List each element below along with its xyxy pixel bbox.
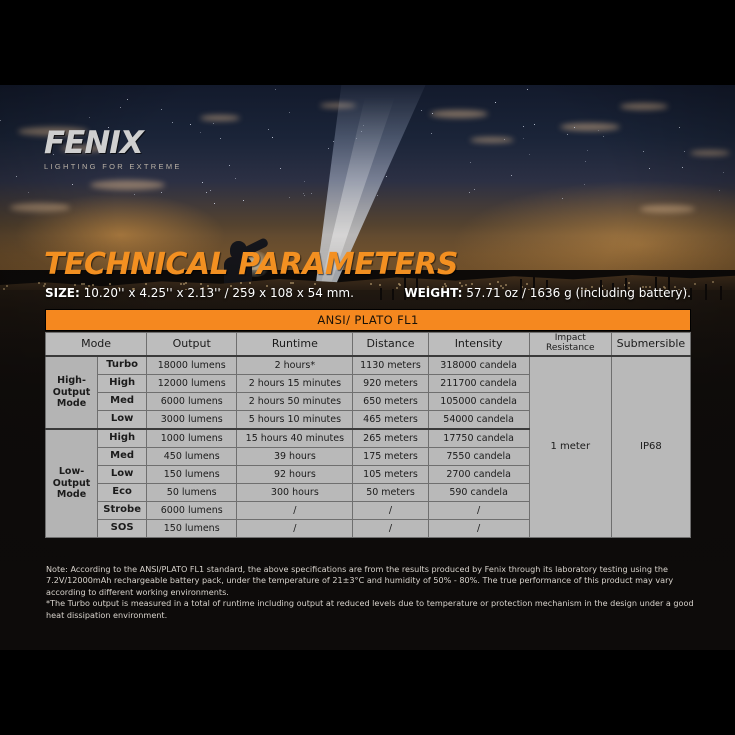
- cell-output: 18000 lumens: [147, 356, 237, 375]
- mode-group-label: High-Output Mode: [46, 356, 98, 429]
- cell-runtime: 300 hours: [237, 484, 353, 502]
- footnote-block: Note: According to the ANSI/PLATO FL1 st…: [46, 564, 694, 621]
- cell-runtime: 2 hours 50 minutes: [237, 393, 353, 411]
- cell-output: 450 lumens: [147, 448, 237, 466]
- cell-distance: 50 meters: [353, 484, 428, 502]
- ansi-standard-banner: ANSI/ PLATO FL1: [45, 309, 691, 331]
- cell-distance: 265 meters: [353, 429, 428, 448]
- cell-runtime: 2 hours*: [237, 356, 353, 375]
- cell-intensity: 105000 candela: [428, 393, 529, 411]
- cell-distance: /: [353, 520, 428, 538]
- cell-intensity: 7550 candela: [428, 448, 529, 466]
- scrub-plant: [720, 286, 722, 300]
- cell-runtime: 5 hours 10 minutes: [237, 411, 353, 430]
- cell-mode: Low: [98, 466, 147, 484]
- page-title: TECHNICAL PARAMETERS: [44, 250, 458, 281]
- cell-distance: 105 meters: [353, 466, 428, 484]
- cell-distance: /: [353, 502, 428, 520]
- cell-runtime: 39 hours: [237, 448, 353, 466]
- size-spec: SIZE: 10.20'' x 4.25'' x 2.13'' / 259 x …: [45, 286, 354, 300]
- cell-mode: Med: [98, 448, 147, 466]
- cell-runtime: 15 hours 40 minutes: [237, 429, 353, 448]
- col-header-runtime: Runtime: [237, 333, 353, 357]
- cell-output: 6000 lumens: [147, 502, 237, 520]
- cell-output: 6000 lumens: [147, 393, 237, 411]
- size-value: 10.20'' x 4.25'' x 2.13'' / 259 x 108 x …: [84, 286, 354, 300]
- fenix-logo: FENIX LIGHTING FOR EXTREME: [44, 128, 182, 171]
- col-header-mode: Mode: [46, 333, 147, 357]
- cell-output: 1000 lumens: [147, 429, 237, 448]
- cell-mode: Strobe: [98, 502, 147, 520]
- cell-runtime: /: [237, 502, 353, 520]
- cell-mode: Med: [98, 393, 147, 411]
- size-label: SIZE:: [45, 286, 80, 300]
- cell-mode: Turbo: [98, 356, 147, 375]
- cell-distance: 920 meters: [353, 375, 428, 393]
- cell-output: 50 lumens: [147, 484, 237, 502]
- cell-distance: 175 meters: [353, 448, 428, 466]
- spec-summary-line: SIZE: 10.20'' x 4.25'' x 2.13'' / 259 x …: [45, 286, 691, 300]
- cell-mode: SOS: [98, 520, 147, 538]
- cell-intensity: 2700 candela: [428, 466, 529, 484]
- mode-group-label: Low-Output Mode: [46, 429, 98, 538]
- technical-parameters-table: ANSI/ PLATO FL1 Mode Output Runtime Dist…: [45, 309, 691, 538]
- weight-spec: WEIGHT: 57.71 oz / 1636 g (including bat…: [404, 286, 691, 300]
- cell-intensity: 590 candela: [428, 484, 529, 502]
- col-header-impact-resistance: Impact Resistance: [529, 333, 611, 357]
- col-header-intensity: Intensity: [428, 333, 529, 357]
- spec-table: Mode Output Runtime Distance Intensity I…: [45, 332, 691, 538]
- cell-output: 12000 lumens: [147, 375, 237, 393]
- cell-output: 150 lumens: [147, 520, 237, 538]
- col-header-output: Output: [147, 333, 237, 357]
- cell-distance: 465 meters: [353, 411, 428, 430]
- cell-mode: Eco: [98, 484, 147, 502]
- cell-distance: 1130 meters: [353, 356, 428, 375]
- cell-intensity: 211700 candela: [428, 375, 529, 393]
- scrub-plant: [705, 284, 707, 300]
- cell-runtime: 92 hours: [237, 466, 353, 484]
- cell-intensity: /: [428, 502, 529, 520]
- footnote-standard: Note: According to the ANSI/PLATO FL1 st…: [46, 564, 694, 598]
- cell-intensity: 318000 candela: [428, 356, 529, 375]
- weight-value: 57.71 oz / 1636 g (including battery).: [466, 286, 691, 300]
- cell-mode: Low: [98, 411, 147, 430]
- cell-output: 3000 lumens: [147, 411, 237, 430]
- col-header-distance: Distance: [353, 333, 428, 357]
- footnote-turbo: *The Turbo output is measured in a total…: [46, 598, 694, 621]
- cell-intensity: /: [428, 520, 529, 538]
- cell-submersible: IP68: [611, 356, 690, 538]
- cell-mode: High: [98, 429, 147, 448]
- table-row: High-Output ModeTurbo18000 lumens2 hours…: [46, 356, 691, 375]
- spec-table-head: Mode Output Runtime Distance Intensity I…: [46, 333, 691, 357]
- weight-label: WEIGHT:: [404, 286, 462, 300]
- logo-tagline: LIGHTING FOR EXTREME: [44, 162, 182, 171]
- table-header-row: Mode Output Runtime Distance Intensity I…: [46, 333, 691, 357]
- col-header-submersible: Submersible: [611, 333, 690, 357]
- cell-runtime: 2 hours 15 minutes: [237, 375, 353, 393]
- cell-impact-resistance: 1 meter: [529, 356, 611, 538]
- cell-intensity: 54000 candela: [428, 411, 529, 430]
- logo-wordmark: FENIX: [44, 128, 182, 159]
- cell-intensity: 17750 candela: [428, 429, 529, 448]
- cell-distance: 650 meters: [353, 393, 428, 411]
- spec-table-body: High-Output ModeTurbo18000 lumens2 hours…: [46, 356, 691, 538]
- cell-output: 150 lumens: [147, 466, 237, 484]
- screenshot-root: FENIX LIGHTING FOR EXTREME TECHNICAL PAR…: [0, 0, 735, 735]
- cell-mode: High: [98, 375, 147, 393]
- cell-runtime: /: [237, 520, 353, 538]
